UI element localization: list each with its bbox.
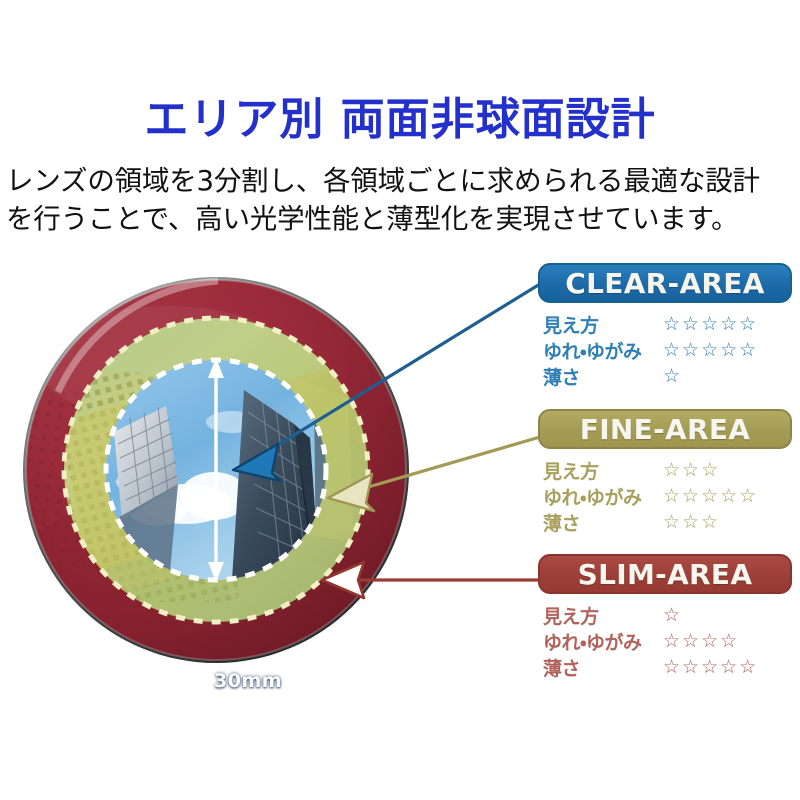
panel-clear-rows: 見え方 ☆☆☆☆☆ ゆれ・ゆがみ ☆☆☆☆☆ 薄さ ☆ bbox=[538, 311, 792, 389]
panel-slim-area: SLIM-AREA 見え方 ☆ ゆれ・ゆがみ ☆☆☆☆ 薄さ ☆☆☆☆☆ bbox=[538, 554, 792, 680]
rating-stars-miekata: ☆ bbox=[663, 606, 682, 625]
rating-row: 薄さ ☆ bbox=[543, 363, 792, 389]
rating-stars-ususa: ☆☆☆☆☆ bbox=[663, 658, 758, 677]
rating-stars-yure-yugami: ☆☆☆☆☆ bbox=[663, 487, 758, 506]
rating-row: ゆれ・ゆがみ ☆☆☆☆☆ bbox=[543, 337, 792, 363]
description-line-1: レンズの領域を3分割し、各領域ごとに求められる最適な設計 bbox=[6, 163, 796, 201]
rating-stars-ususa: ☆ bbox=[663, 367, 682, 386]
infographic-canvas: エリア別 両面非球面設計 レンズの領域を3分割し、各領域ごとに求められる最適な設… bbox=[0, 0, 800, 800]
dimension-label-30mm: 30mm bbox=[214, 670, 282, 692]
rating-stars-miekata: ☆☆☆ bbox=[663, 461, 720, 480]
lens-illustration bbox=[18, 272, 414, 668]
panel-fine-title[interactable]: FINE-AREA bbox=[538, 409, 792, 449]
rating-label-yure-yugami: ゆれ・ゆがみ bbox=[543, 483, 663, 510]
panel-slim-rows: 見え方 ☆ ゆれ・ゆがみ ☆☆☆☆ 薄さ ☆☆☆☆☆ bbox=[538, 602, 792, 680]
description-line-2: を行うことで、高い光学性能と薄型化を実現させています。 bbox=[6, 201, 796, 239]
rating-label-miekata: 見え方 bbox=[543, 457, 663, 484]
panel-clear-title[interactable]: CLEAR-AREA bbox=[538, 263, 792, 303]
rating-label-ususa: 薄さ bbox=[543, 509, 663, 536]
panel-fine-rows: 見え方 ☆☆☆ ゆれ・ゆがみ ☆☆☆☆☆ 薄さ ☆☆☆ bbox=[538, 457, 792, 535]
rating-stars-miekata: ☆☆☆☆☆ bbox=[663, 315, 758, 334]
rating-row: 見え方 ☆ bbox=[543, 602, 792, 628]
rating-label-ususa: 薄さ bbox=[543, 363, 663, 390]
rating-row: 薄さ ☆☆☆ bbox=[543, 509, 792, 535]
panel-slim-title[interactable]: SLIM-AREA bbox=[538, 554, 792, 594]
rating-row: 薄さ ☆☆☆☆☆ bbox=[543, 654, 792, 680]
description-text: レンズの領域を3分割し、各領域ごとに求められる最適な設計 を行うことで、高い光学… bbox=[6, 163, 796, 239]
panel-clear-area: CLEAR-AREA 見え方 ☆☆☆☆☆ ゆれ・ゆがみ ☆☆☆☆☆ 薄さ ☆ bbox=[538, 263, 792, 389]
rating-row: 見え方 ☆☆☆ bbox=[543, 457, 792, 483]
rating-stars-yure-yugami: ☆☆☆☆ bbox=[663, 632, 739, 651]
rating-label-miekata: 見え方 bbox=[543, 311, 663, 338]
lens-diagram: 30mm bbox=[18, 272, 414, 668]
rating-label-ususa: 薄さ bbox=[543, 654, 663, 681]
rating-label-miekata: 見え方 bbox=[543, 602, 663, 629]
rating-label-yure-yugami: ゆれ・ゆがみ bbox=[543, 628, 663, 655]
panel-fine-area: FINE-AREA 見え方 ☆☆☆ ゆれ・ゆがみ ☆☆☆☆☆ 薄さ ☆☆☆ bbox=[538, 409, 792, 535]
rating-row: 見え方 ☆☆☆☆☆ bbox=[543, 311, 792, 337]
rating-stars-ususa: ☆☆☆ bbox=[663, 513, 720, 532]
rating-label-yure-yugami: ゆれ・ゆがみ bbox=[543, 337, 663, 364]
rating-stars-yure-yugami: ☆☆☆☆☆ bbox=[663, 341, 758, 360]
page-title: エリア別 両面非球面設計 bbox=[0, 98, 800, 142]
rating-row: ゆれ・ゆがみ ☆☆☆☆☆ bbox=[543, 483, 792, 509]
rating-row: ゆれ・ゆがみ ☆☆☆☆ bbox=[543, 628, 792, 654]
